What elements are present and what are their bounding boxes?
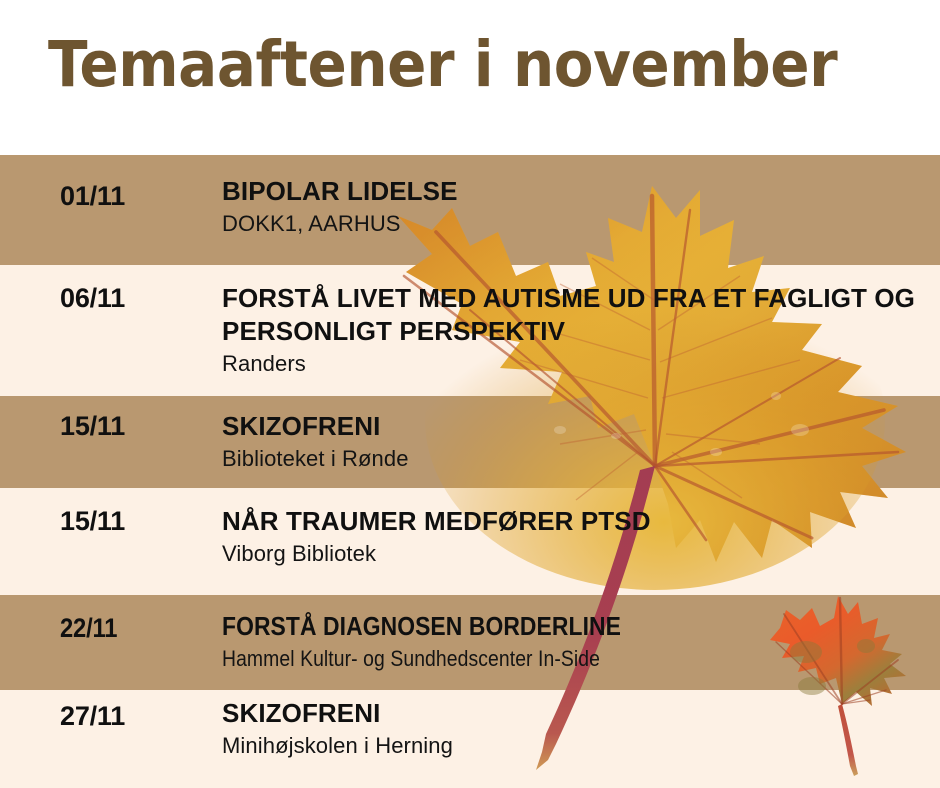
event-body: FORSTÅ DIAGNOSEN BORDERLINEHammel Kultur…: [222, 610, 930, 672]
event-body: FORSTÅ LIVET MED AUTISME UD FRA ET FAGLI…: [222, 282, 930, 377]
event-title: SKIZOFRENI: [222, 697, 930, 730]
event-body: NÅR TRAUMER MEDFØRER PTSDViborg Bibliote…: [222, 505, 930, 567]
event-title: NÅR TRAUMER MEDFØRER PTSD: [222, 505, 930, 538]
event-title: BIPOLAR LIDELSE: [222, 175, 930, 208]
event-venue: Hammel Kultur- og Sundhedscenter In-Side: [222, 645, 845, 672]
event-title: FORSTÅ LIVET MED AUTISME UD FRA ET FAGLI…: [222, 282, 930, 348]
event-venue: Randers: [222, 350, 930, 377]
event-date: 15/11: [60, 505, 125, 537]
event-date: 06/11: [60, 282, 125, 314]
event-venue: Biblioteket i Rønde: [222, 445, 930, 472]
event-date: 22/11: [60, 612, 117, 644]
event-title: FORSTÅ DIAGNOSEN BORDERLINE: [222, 610, 845, 643]
event-venue: Viborg Bibliotek: [222, 540, 930, 567]
event-date: 27/11: [60, 700, 125, 732]
poster-root: Temaaftener i november 01/11BIPOLAR LIDE…: [0, 0, 940, 788]
event-venue: DOKK1, AARHUS: [222, 210, 930, 237]
event-date: 01/11: [60, 180, 125, 212]
poster-header: Temaaftener i november: [0, 0, 940, 155]
event-venue: Minihøjskolen i Herning: [222, 732, 930, 759]
event-body: BIPOLAR LIDELSEDOKK1, AARHUS: [222, 175, 930, 237]
event-body: SKIZOFRENIMinihøjskolen i Herning: [222, 697, 930, 759]
event-date: 15/11: [60, 410, 125, 442]
event-title: SKIZOFRENI: [222, 410, 930, 443]
page-title: Temaaftener i november: [48, 28, 837, 102]
event-body: SKIZOFRENIBiblioteket i Rønde: [222, 410, 930, 472]
